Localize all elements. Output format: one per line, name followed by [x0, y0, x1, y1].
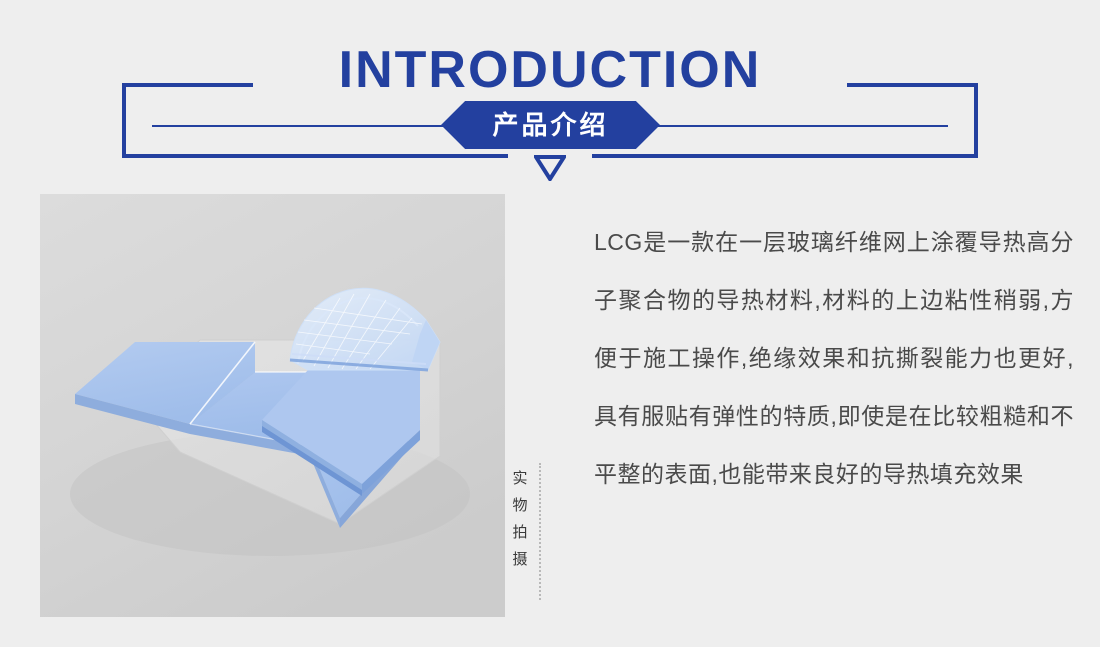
content-area: 实 物 拍 摄 LCG是一款在一层玻璃纤维网上涂覆导热高分子聚合物的导热材料,材…	[0, 190, 1100, 647]
photo-caption-char-3: 拍	[505, 519, 535, 546]
photo-caption-char-4: 摄	[505, 546, 535, 573]
frame-right-bottom-rule	[592, 154, 978, 158]
frame-left-vertical	[122, 83, 126, 158]
caption-divider	[539, 463, 541, 600]
product-description-paragraph: LCG是一款在一层玻璃纤维网上涂覆导热高分子聚合物的导热材料,材料的上边粘性稍弱…	[594, 213, 1074, 503]
page-title: INTRODUCTION	[0, 42, 1100, 98]
header-block: INTRODUCTION 产品介绍	[0, 0, 1100, 190]
triangle-down-icon	[534, 155, 566, 181]
photo-caption-char-1: 实	[505, 465, 535, 492]
photo-caption-char-2: 物	[505, 492, 535, 519]
section-badge: 产品介绍	[441, 101, 660, 149]
frame-left-bottom-rule	[122, 154, 508, 158]
photo-caption: 实 物 拍 摄	[505, 465, 535, 573]
frame-right-top-rule	[847, 83, 978, 87]
frame-right-vertical	[974, 83, 978, 158]
badge-left-rule	[152, 125, 452, 127]
frame-left-top-rule	[122, 83, 253, 87]
section-badge-label: 产品介绍	[492, 112, 608, 138]
badge-right-rule	[648, 125, 948, 127]
product-photo	[40, 194, 505, 617]
product-photo-illustration	[40, 194, 505, 617]
